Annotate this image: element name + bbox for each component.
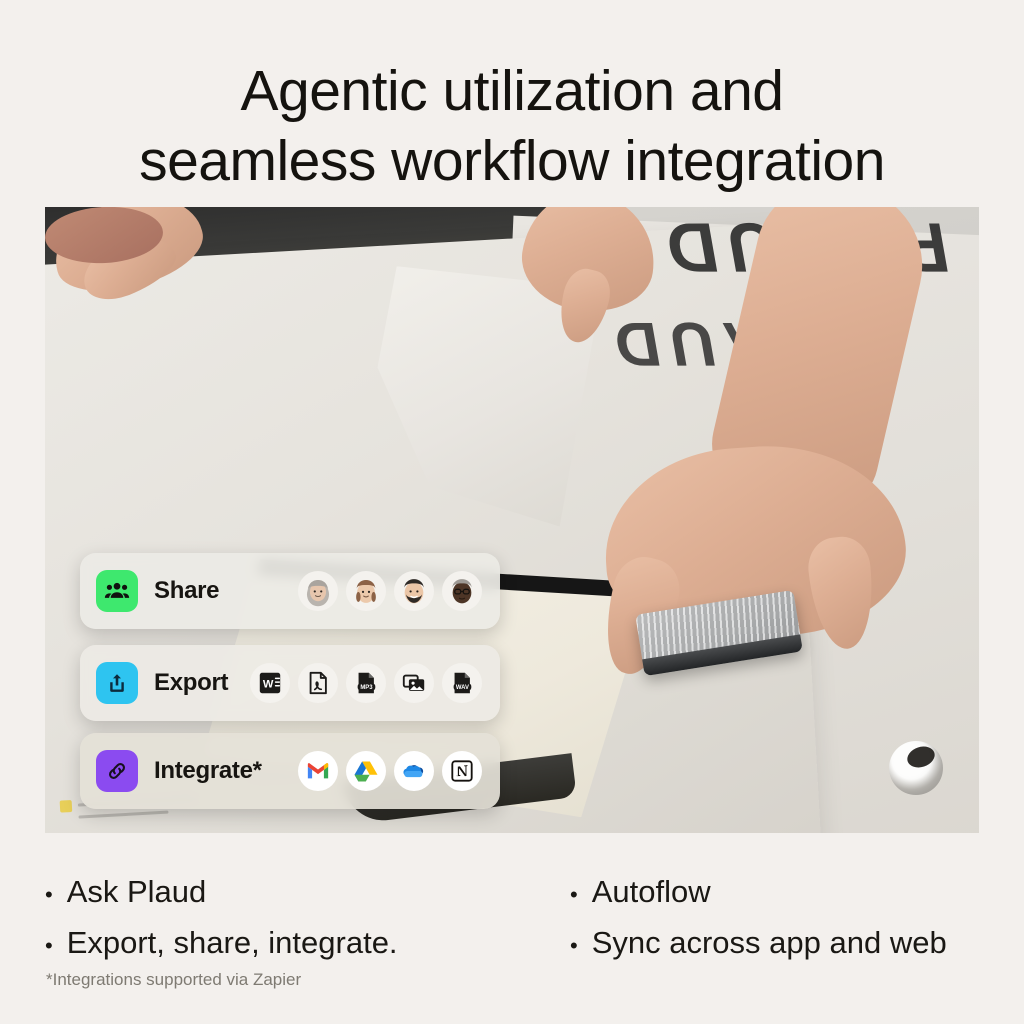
- page-title-line-2: seamless workflow integration: [0, 126, 1024, 196]
- bullet-text: Export, share, integrate.: [67, 923, 398, 963]
- feature-bullets: • Ask Plaud • Export, share, integrate. …: [45, 872, 985, 974]
- hero-photo: PLAUD PLAUD: [45, 207, 979, 833]
- export-format-group: W MP3: [250, 663, 482, 703]
- people-icon: [96, 570, 138, 612]
- share-pill[interactable]: Share: [80, 553, 500, 629]
- page-title: Agentic utilization and seamless workflo…: [0, 56, 1024, 196]
- page-title-line-1: Agentic utilization and: [0, 56, 1024, 126]
- list-item: • Export, share, integrate.: [45, 923, 515, 966]
- wav-file-icon[interactable]: WAV: [442, 663, 482, 703]
- integrate-pill[interactable]: Integrate*: [80, 733, 500, 809]
- integration-logo-group: [298, 751, 482, 791]
- svg-text:MP3: MP3: [360, 685, 373, 691]
- print-mark: [78, 811, 168, 819]
- bullet-column-left: • Ask Plaud • Export, share, integrate.: [45, 872, 515, 974]
- avatar[interactable]: [346, 571, 386, 611]
- list-item: • Autoflow: [570, 872, 985, 915]
- avatar[interactable]: [442, 571, 482, 611]
- link-icon: [96, 750, 138, 792]
- notion-icon[interactable]: [442, 751, 482, 791]
- share-pill-label: Share: [154, 577, 219, 605]
- image-file-icon[interactable]: [394, 663, 434, 703]
- onedrive-icon[interactable]: [394, 751, 434, 791]
- bullet-text: Sync across app and web: [592, 923, 947, 963]
- gmail-icon[interactable]: [298, 751, 338, 791]
- bullet-marker-icon: •: [570, 926, 578, 966]
- footnote: *Integrations supported via Zapier: [46, 970, 301, 990]
- bullet-marker-icon: •: [45, 926, 53, 966]
- svg-text:W: W: [263, 679, 274, 691]
- google-drive-icon[interactable]: [346, 751, 386, 791]
- upload-share-icon: [96, 662, 138, 704]
- svg-text:WAV: WAV: [456, 685, 469, 691]
- bullet-text: Autoflow: [592, 872, 711, 912]
- export-pill-label: Export: [154, 669, 228, 697]
- share-avatar-group: [298, 571, 482, 611]
- export-pill[interactable]: Export W: [80, 645, 500, 721]
- list-item: • Ask Plaud: [45, 872, 515, 915]
- word-file-icon[interactable]: W: [250, 663, 290, 703]
- bullet-column-right: • Autoflow • Sync across app and web: [515, 872, 985, 974]
- bullet-marker-icon: •: [570, 875, 578, 915]
- list-item: • Sync across app and web: [570, 923, 985, 966]
- mp3-file-icon[interactable]: MP3: [346, 663, 386, 703]
- integrate-pill-label: Integrate*: [154, 757, 262, 785]
- sticky-note: [60, 800, 73, 813]
- bullet-text: Ask Plaud: [67, 872, 207, 912]
- bullet-marker-icon: •: [45, 875, 53, 915]
- avatar[interactable]: [298, 571, 338, 611]
- avatar[interactable]: [394, 571, 434, 611]
- pdf-file-icon[interactable]: [298, 663, 338, 703]
